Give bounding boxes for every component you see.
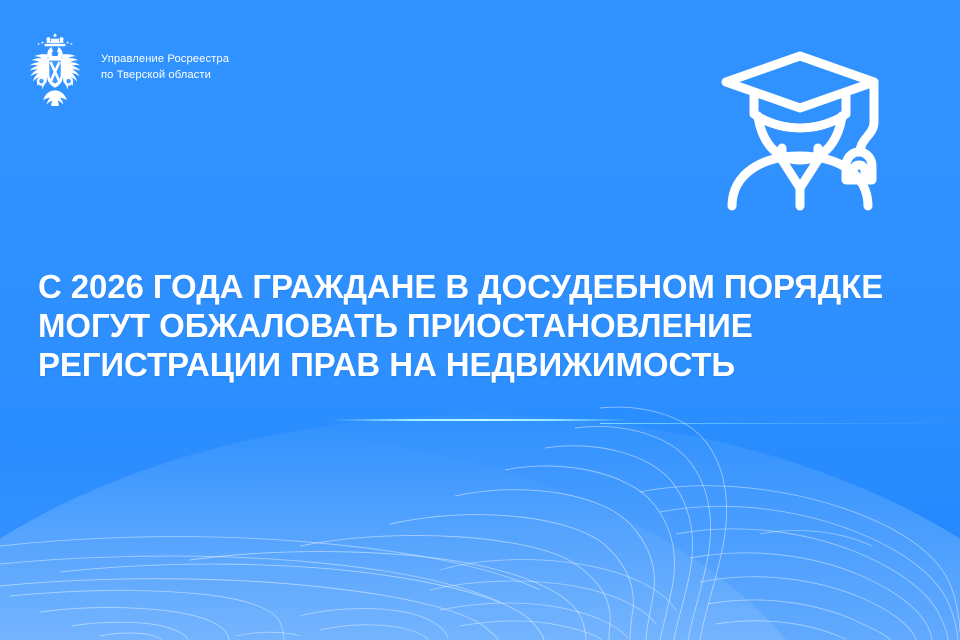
topographic-contour-lines: [0, 400, 960, 640]
organization-name-line1: Управление Росреестра: [101, 53, 229, 65]
page-title: С 2026 ГОДА ГРАЖДАНЕ В ДОСУДЕБНОМ ПОРЯДК…: [38, 268, 920, 385]
organization-name: Управление Росреестра по Тверской област…: [101, 52, 229, 84]
graduate-student-icon: [714, 48, 886, 212]
rosreestr-double-headed-eagle-emblem: [18, 30, 92, 106]
organization-logo: Управление Росреестра по Тверской област…: [18, 30, 229, 106]
headline-line-1: С 2026 ГОДА ГРАЖДАНЕ В ДОСУДЕБНОМ ПОРЯДК…: [38, 268, 920, 307]
organization-name-line2: по Тверской области: [101, 68, 229, 84]
announcement-banner: Управление Росреестра по Тверской област…: [0, 0, 960, 640]
headline-line-2: МОГУТ ОБЖАЛОВАТЬ ПРИОСТАНОВЛЕНИЕ: [38, 307, 920, 346]
headline-line-3: РЕГИСТРАЦИИ ПРАВ НА НЕДВИЖИМОСТЬ: [38, 346, 920, 385]
